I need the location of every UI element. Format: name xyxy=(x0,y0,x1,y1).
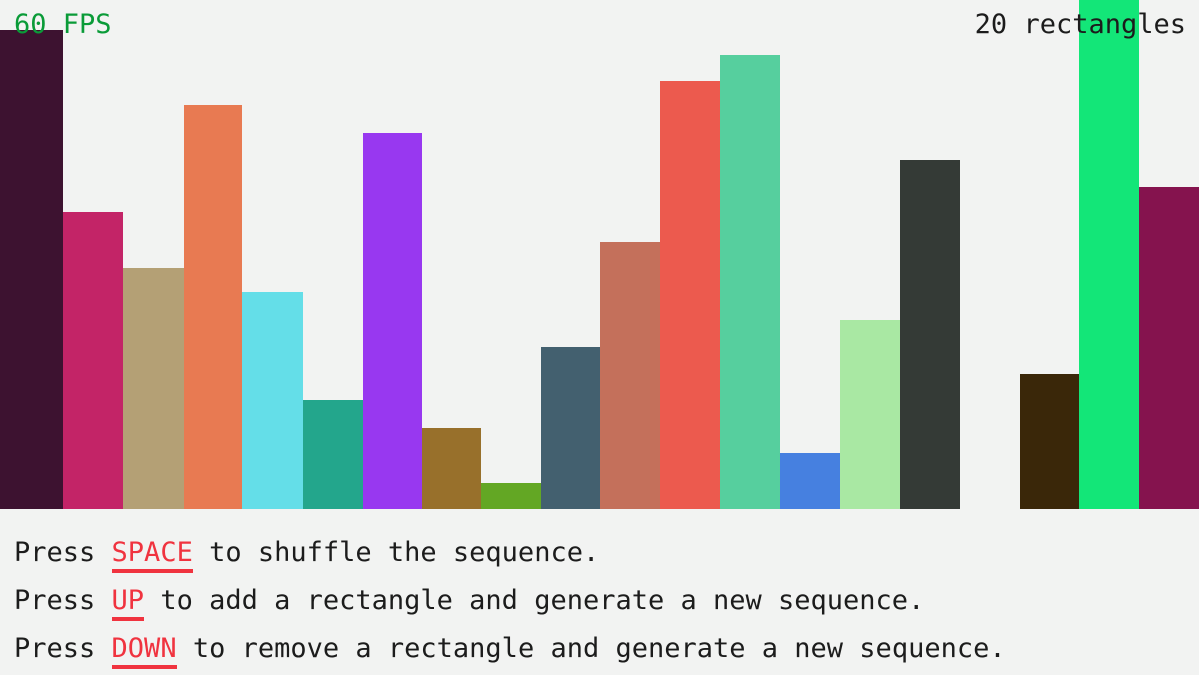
key-down[interactable]: DOWN xyxy=(112,633,177,669)
key-space[interactable]: SPACE xyxy=(112,537,193,573)
instruction-prefix: Press xyxy=(14,633,112,664)
bar-20-dark-maroon xyxy=(1139,187,1199,509)
bar-1-dark-plum xyxy=(0,30,63,509)
bar-6-teal xyxy=(303,400,363,509)
bar-15-light-green xyxy=(840,320,900,509)
bar-13-mint-green xyxy=(720,55,780,509)
bar-18-dark-brown xyxy=(1020,374,1079,509)
bar-9-olive-green xyxy=(481,483,541,509)
bar-8-brown xyxy=(422,428,481,509)
key-up[interactable]: UP xyxy=(112,585,145,621)
bar-19-bright-green xyxy=(1079,0,1139,509)
bar-12-red xyxy=(660,81,720,509)
bar-5-cyan xyxy=(242,292,303,509)
bar-10-slate-blue xyxy=(541,347,600,509)
rectangle-chart xyxy=(0,0,1199,509)
bar-2-magenta xyxy=(63,212,123,509)
bar-7-purple xyxy=(363,133,422,509)
bar-4-orange xyxy=(184,105,242,509)
instruction-suffix: to shuffle the sequence. xyxy=(193,537,599,568)
instruction-line-2: Press UP to add a rectangle and generate… xyxy=(14,577,1199,625)
bar-16-charcoal xyxy=(900,160,960,509)
instruction-suffix: to add a rectangle and generate a new se… xyxy=(144,585,924,616)
app-stage: 60 FPS 20 rectangles Press SPACE to shuf… xyxy=(0,0,1199,675)
rectangle-count-label: 20 rectangles xyxy=(975,11,1186,38)
bar-11-salmon-brown xyxy=(600,242,660,509)
bar-14-blue xyxy=(780,453,840,509)
instruction-prefix: Press xyxy=(14,537,112,568)
instruction-prefix: Press xyxy=(14,585,112,616)
instruction-line-3: Press DOWN to remove a rectangle and gen… xyxy=(14,625,1199,673)
instructions-panel: Press SPACE to shuffle the sequence.Pres… xyxy=(0,509,1199,675)
fps-counter: 60 FPS xyxy=(14,11,112,38)
bar-3-tan xyxy=(123,268,184,509)
instruction-suffix: to remove a rectangle and generate a new… xyxy=(177,633,1006,664)
instruction-line-1: Press SPACE to shuffle the sequence. xyxy=(14,529,1199,577)
